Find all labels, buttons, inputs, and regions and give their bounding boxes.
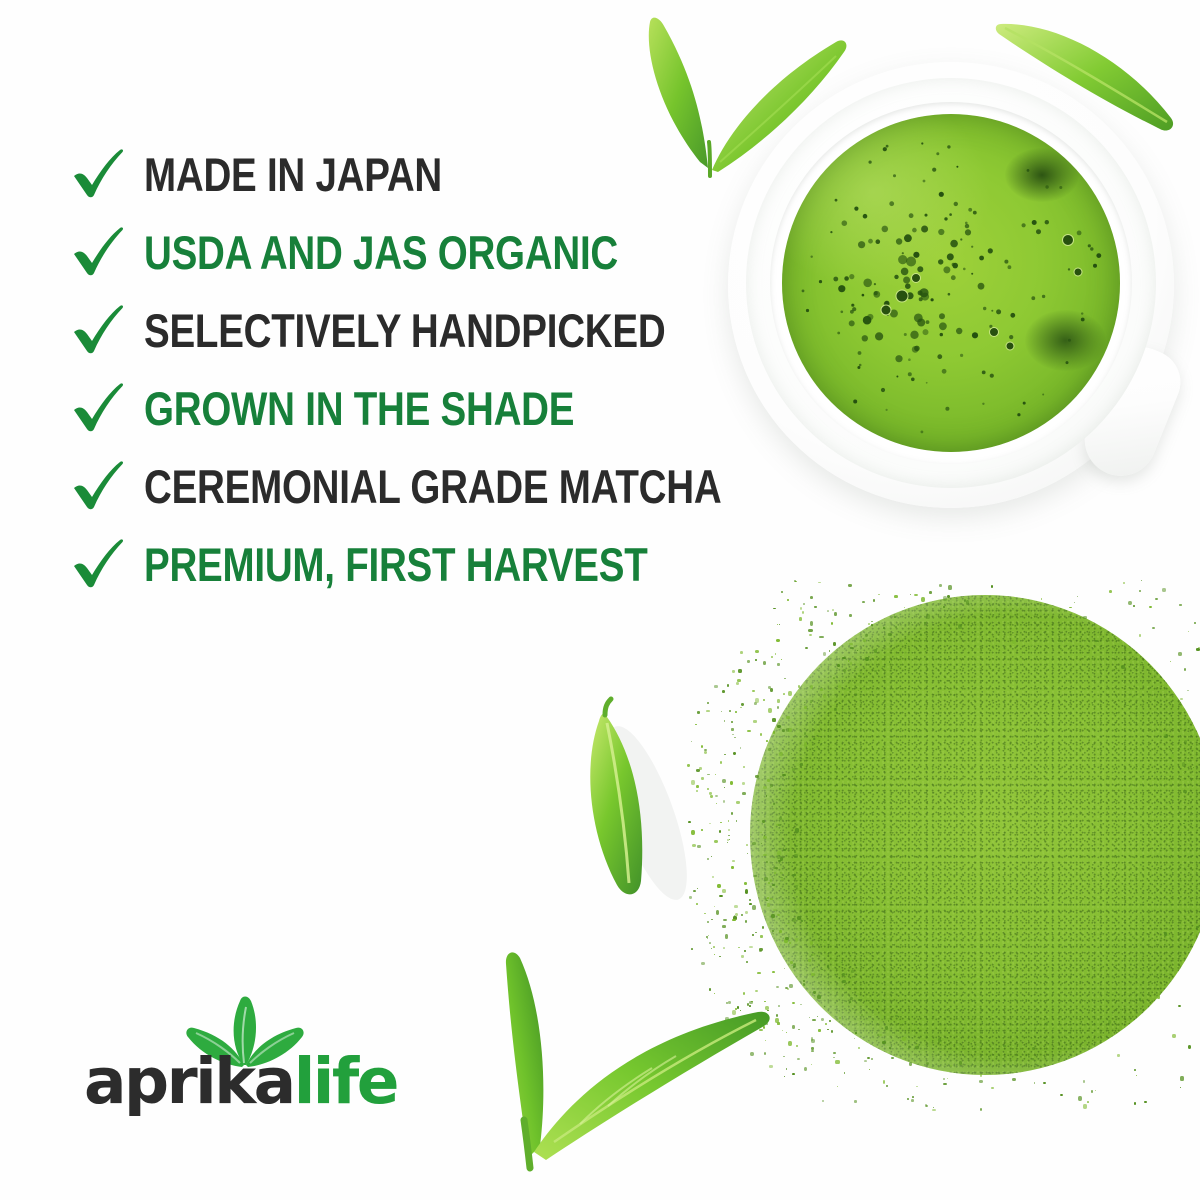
- brand-wordmark: aprikalife: [84, 1050, 397, 1113]
- powder-grain: [746, 844, 748, 846]
- powder-grain: [1144, 1101, 1146, 1104]
- powder-grain: [727, 684, 729, 687]
- powder-grain: [809, 634, 812, 636]
- powder-grain: [704, 913, 706, 915]
- powder-grain: [763, 699, 765, 702]
- powder-grain: [867, 1057, 870, 1060]
- tea-leaf-top-right-icon: [985, 2, 1200, 147]
- feature-label: GROWN IN THE SHADE: [144, 385, 574, 432]
- powder-grain: [1128, 601, 1132, 606]
- powder-grain: [811, 1064, 812, 1065]
- powder-grain: [788, 691, 792, 696]
- powder-grain: [878, 594, 880, 596]
- powder-grain: [1155, 598, 1159, 601]
- powder-grain: [781, 659, 782, 660]
- powder-grain: [912, 1096, 914, 1098]
- checkmark-icon: [68, 457, 126, 515]
- checkmark-icon: [68, 301, 126, 359]
- powder-grain: [1078, 1096, 1082, 1101]
- powder-grain: [803, 603, 806, 605]
- powder-grain: [817, 1016, 818, 1017]
- powder-grain: [747, 660, 750, 663]
- powder-grain: [1178, 1005, 1182, 1008]
- powder-grain: [811, 1047, 814, 1050]
- powder-grain: [835, 1060, 839, 1064]
- powder-grain: [834, 612, 837, 616]
- powder-grain: [811, 1037, 814, 1040]
- powder-grain: [784, 678, 786, 679]
- powder-grain: [1043, 1082, 1047, 1084]
- powder-grain: [943, 1083, 947, 1085]
- powder-grain: [768, 686, 771, 689]
- powder-grain: [948, 585, 952, 590]
- powder-grain: [749, 903, 752, 905]
- powder-grain: [1034, 1082, 1036, 1084]
- powder-mound: [750, 595, 1200, 1075]
- powder-grain: [747, 730, 750, 732]
- powder-grain: [745, 889, 749, 894]
- powder-grain: [798, 1029, 800, 1031]
- powder-grain: [914, 594, 917, 596]
- powder-grain: [873, 599, 875, 602]
- powder-grain: [886, 1085, 888, 1087]
- powder-grain: [796, 1045, 798, 1047]
- feature-row: PREMIUM, FIRST HARVEST: [68, 525, 728, 603]
- powder-grain: [737, 679, 741, 683]
- powder-grain: [777, 624, 778, 625]
- powder-grain: [732, 670, 735, 673]
- powder-grain: [854, 1038, 856, 1040]
- powder-grain: [716, 910, 720, 915]
- powder-grain: [1152, 627, 1155, 629]
- powder-grain: [1136, 1075, 1137, 1076]
- powder-grain: [755, 650, 759, 654]
- powder-grain: [753, 720, 757, 723]
- powder-grain: [894, 595, 898, 598]
- powder-grain: [1041, 598, 1043, 600]
- powder-grain: [854, 1100, 857, 1102]
- powder-grain: [1087, 1101, 1089, 1103]
- powder-grain: [916, 1086, 918, 1087]
- tea-leaf-middle-icon: [555, 695, 745, 910]
- powder-grain: [829, 1020, 830, 1022]
- powder-grain: [810, 621, 814, 626]
- powder-grain: [991, 585, 993, 588]
- powder-grain: [849, 614, 852, 617]
- powder-grain: [829, 650, 831, 652]
- tea-leaf-sprig-bottom-icon: [462, 920, 792, 1170]
- powder-grain: [921, 597, 925, 602]
- powder-grain: [1179, 604, 1182, 606]
- powder-grain: [755, 659, 758, 661]
- powder-grain: [1109, 590, 1112, 593]
- powder-grain: [777, 699, 780, 703]
- powder-grain: [822, 1100, 824, 1103]
- checkmark-icon: [68, 379, 126, 437]
- powder-grain: [1196, 648, 1200, 651]
- powder-grain: [781, 591, 783, 594]
- feature-list: MADE IN JAPANUSDA AND JAS ORGANICSELECTI…: [68, 135, 728, 603]
- powder-grain: [809, 1017, 811, 1019]
- powder-edge-fade: [750, 595, 1200, 1075]
- powder-grain: [1060, 1094, 1063, 1096]
- brand-name-primary: aprika: [84, 1045, 294, 1118]
- powder-grain: [821, 1018, 824, 1022]
- powder-grain: [844, 1072, 846, 1074]
- powder-grain: [787, 599, 789, 601]
- powder-grain: [1194, 622, 1196, 625]
- powder-grain: [929, 591, 932, 595]
- powder-grain: [811, 1039, 815, 1043]
- powder-grain: [812, 1019, 816, 1022]
- powder-grain: [831, 1030, 833, 1033]
- powder-grain: [747, 853, 748, 854]
- powder-grain: [735, 913, 738, 916]
- powder-grain: [792, 1002, 795, 1005]
- powder-grain: [752, 905, 756, 910]
- powder-grain: [907, 1098, 909, 1100]
- feature-row: CEREMONIAL GRADE MATCHA: [68, 447, 728, 525]
- feature-label: MADE IN JAPAN: [144, 151, 442, 198]
- powder-grain: [818, 1029, 820, 1031]
- powder-grain: [858, 1047, 860, 1048]
- powder-grain: [808, 629, 812, 633]
- powder-grain: [736, 682, 739, 685]
- powder-grain: [1139, 634, 1141, 637]
- powder-grain: [745, 911, 748, 915]
- powder-grain: [833, 642, 836, 646]
- feature-row: USDA AND JAS ORGANIC: [68, 213, 728, 291]
- powder-grain: [771, 656, 773, 658]
- powder-grain: [783, 693, 785, 695]
- powder-grain: [745, 892, 746, 893]
- powder-grain: [797, 1058, 801, 1061]
- powder-grain: [777, 663, 780, 666]
- powder-grain: [754, 702, 757, 705]
- powder-grain: [825, 1023, 828, 1025]
- powder-grain: [1117, 1054, 1120, 1057]
- powder-grain: [804, 1067, 808, 1071]
- powder-grain: [1069, 607, 1072, 609]
- powder-grain: [800, 1004, 802, 1006]
- product-feature-banner: MADE IN JAPANUSDA AND JAS ORGANICSELECTI…: [0, 0, 1200, 1200]
- powder-grain: [1083, 1080, 1085, 1082]
- powder-grain: [871, 1058, 873, 1060]
- powder-grain: [891, 1057, 893, 1059]
- feature-label: SELECTIVELY HANDPICKED: [144, 307, 665, 354]
- feature-label: CEREMONIAL GRADE MATCHA: [144, 463, 721, 510]
- powder-grain: [883, 1080, 886, 1083]
- powder-grain: [1149, 606, 1152, 609]
- powder-grain: [943, 1078, 945, 1080]
- powder-grain: [1077, 596, 1078, 597]
- powder-grain: [1170, 661, 1171, 662]
- powder-grain: [1133, 605, 1135, 607]
- powder-grain: [1134, 1069, 1136, 1071]
- powder-grain: [1162, 588, 1166, 592]
- powder-grain: [738, 669, 742, 673]
- powder-grain: [1184, 668, 1187, 671]
- powder-grain: [862, 601, 865, 603]
- feature-label: USDA AND JAS ORGANIC: [144, 229, 618, 276]
- powder-grain: [1188, 1045, 1192, 1049]
- powder-grain: [792, 1073, 795, 1075]
- powder-grain: [1083, 1104, 1087, 1108]
- powder-grain: [819, 636, 823, 639]
- powder-grain: [848, 584, 852, 587]
- powder-grain: [776, 639, 780, 642]
- powder-grain: [752, 690, 755, 693]
- powder-grain: [779, 624, 781, 626]
- powder-grain: [1187, 690, 1189, 691]
- brand-logo: aprikalife: [84, 995, 384, 1115]
- powder-grain: [772, 718, 776, 722]
- powder-grain: [800, 607, 803, 610]
- powder-grain: [925, 1104, 928, 1107]
- powder-grain: [805, 647, 808, 649]
- powder-grain: [799, 617, 802, 621]
- powder-grain: [827, 610, 829, 612]
- checkmark-icon: [68, 223, 126, 281]
- powder-grain: [910, 594, 912, 595]
- powder-grain: [837, 1086, 838, 1087]
- powder-grain: [773, 608, 776, 610]
- powder-grain: [979, 1080, 983, 1083]
- powder-grain: [1012, 1078, 1016, 1082]
- powder-grain: [810, 596, 814, 599]
- powder-grain: [740, 651, 743, 655]
- brand-name-secondary: life: [294, 1045, 397, 1118]
- powder-grain: [833, 1052, 836, 1054]
- powder-grain: [760, 733, 762, 736]
- powder-grain: [864, 1060, 867, 1062]
- powder-grain: [833, 1057, 835, 1058]
- powder-grain: [926, 1105, 928, 1107]
- powder-grain: [734, 915, 735, 917]
- feature-label: PREMIUM, FIRST HARVEST: [144, 541, 648, 588]
- powder-grain: [1180, 698, 1183, 701]
- powder-grain: [1172, 1034, 1176, 1038]
- powder-grain: [1180, 1076, 1184, 1081]
- powder-grain: [768, 708, 772, 713]
- powder-grain: [869, 1069, 870, 1071]
- powder-grain: [827, 1029, 829, 1031]
- powder-grain: [932, 1109, 936, 1112]
- powder-grain: [991, 1087, 994, 1090]
- powder-grain: [1180, 1087, 1181, 1088]
- feature-row: GROWN IN THE SHADE: [68, 369, 728, 447]
- powder-grain: [939, 584, 942, 587]
- powder-grain: [1178, 652, 1182, 656]
- powder-grain: [741, 914, 743, 916]
- powder-grain: [832, 609, 834, 611]
- powder-grain: [777, 706, 780, 709]
- powder-grain: [1074, 602, 1075, 603]
- powder-grain: [792, 1025, 795, 1029]
- powder-grain: [980, 1108, 983, 1111]
- powder-grain: [831, 622, 834, 625]
- feature-row: MADE IN JAPAN: [68, 135, 728, 213]
- checkmark-icon: [68, 145, 126, 203]
- feature-row: SELECTIVELY HANDPICKED: [68, 291, 728, 369]
- powder-grain: [763, 661, 767, 665]
- powder-grain: [823, 652, 827, 656]
- powder-grain: [811, 1050, 814, 1052]
- powder-grain: [1095, 1090, 1096, 1091]
- powder-grain: [1188, 631, 1190, 633]
- powder-grain: [871, 621, 873, 622]
- powder-grain: [1134, 1102, 1136, 1105]
- powder-grain: [1091, 1090, 1093, 1093]
- powder-grain: [775, 653, 776, 655]
- powder-grain: [770, 688, 774, 692]
- powder-grain: [933, 1107, 934, 1109]
- powder-grain: [814, 606, 817, 608]
- powder-grain: [749, 899, 751, 901]
- powder-grain: [722, 690, 725, 693]
- powder-grain: [714, 685, 718, 688]
- powder-grain: [1139, 590, 1141, 592]
- powder-grain: [755, 698, 759, 703]
- powder-grain: [911, 1099, 914, 1102]
- powder-grain: [802, 611, 805, 614]
- powder-grain: [947, 1078, 949, 1079]
- checkmark-icon: [68, 535, 126, 593]
